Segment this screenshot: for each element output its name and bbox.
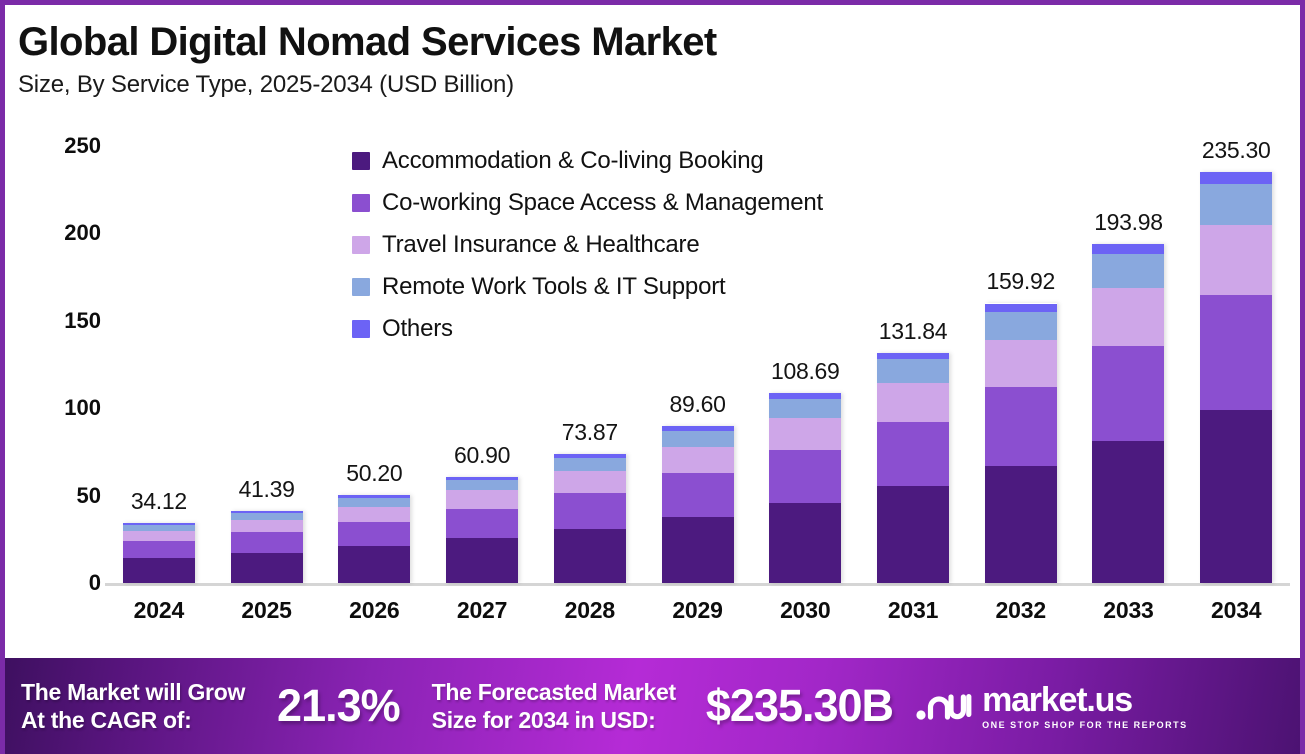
bar-segment[interactable] xyxy=(1092,441,1164,583)
bar-segment[interactable] xyxy=(231,553,303,583)
bar-total-label: 235.30 xyxy=(1202,137,1271,164)
bar-segment[interactable] xyxy=(662,473,734,517)
legend-item-label: Accommodation & Co-living Booking xyxy=(382,147,764,175)
legend-item[interactable]: Others xyxy=(352,315,823,343)
cagr-label: The Market will Grow At the CAGR of: xyxy=(21,678,245,734)
y-axis-tick: 200 xyxy=(27,220,101,246)
bar-total-label: 193.98 xyxy=(1094,209,1163,236)
legend-item-label: Others xyxy=(382,315,453,343)
bar-segment[interactable] xyxy=(877,383,949,422)
bar-total-label: 34.12 xyxy=(131,488,187,515)
bar-total-label: 50.20 xyxy=(346,460,402,487)
footer-banner: The Market will Grow At the CAGR of: 21.… xyxy=(5,658,1305,754)
bar-total-label: 60.90 xyxy=(454,442,510,469)
bar-total-label: 108.69 xyxy=(771,358,840,385)
bar-segment[interactable] xyxy=(662,517,734,583)
y-axis: 050100150200250 xyxy=(27,117,101,587)
bar-segment[interactable] xyxy=(554,529,626,583)
legend-item[interactable]: Accommodation & Co-living Booking xyxy=(352,147,823,175)
bar-stack[interactable] xyxy=(662,426,734,583)
x-axis-tick: 2034 xyxy=(1182,597,1290,624)
bar-segment[interactable] xyxy=(123,541,195,558)
x-axis-tick: 2027 xyxy=(428,597,536,624)
market-us-logo-text: market.us ONE STOP SHOP FOR THE REPORTS xyxy=(982,683,1188,730)
chart-plot-area: 050100150200250 Accommodation & Co-livin… xyxy=(5,117,1300,637)
cagr-label-line1: The Market will Grow xyxy=(21,678,245,706)
bar-segment[interactable] xyxy=(877,353,949,360)
header: Global Digital Nomad Services Market Siz… xyxy=(18,22,1288,99)
bar-segment[interactable] xyxy=(554,493,626,529)
bar-total-label: 73.87 xyxy=(562,419,618,446)
logo-tagline: ONE STOP SHOP FOR THE REPORTS xyxy=(982,720,1188,730)
bar-stack[interactable] xyxy=(877,353,949,583)
bar-total-label: 159.92 xyxy=(986,268,1055,295)
bar-segment[interactable] xyxy=(123,558,195,583)
bar-segment[interactable] xyxy=(231,513,303,520)
bar-segment[interactable] xyxy=(662,431,734,447)
bar-segment[interactable] xyxy=(1200,295,1272,410)
bar-segment[interactable] xyxy=(1200,172,1272,184)
page-title: Global Digital Nomad Services Market xyxy=(18,22,1288,64)
x-axis-baseline xyxy=(105,583,1290,586)
bar-segment[interactable] xyxy=(338,546,410,583)
bar-segment[interactable] xyxy=(338,522,410,547)
bar-segment[interactable] xyxy=(985,312,1057,340)
y-axis-tick: 150 xyxy=(27,308,101,334)
bar-segment[interactable] xyxy=(1092,244,1164,254)
bar-segment[interactable] xyxy=(446,509,518,539)
bar-segment[interactable] xyxy=(769,503,841,583)
y-axis-tick: 0 xyxy=(27,570,101,596)
cagr-label-line2: At the CAGR of: xyxy=(21,706,245,734)
x-axis-tick: 2029 xyxy=(644,597,752,624)
logo-wordmark: market.us xyxy=(982,683,1132,717)
bar-segment[interactable] xyxy=(985,340,1057,388)
bar-segment[interactable] xyxy=(1200,225,1272,295)
legend-swatch-icon xyxy=(352,152,370,170)
bar-segment[interactable] xyxy=(338,498,410,507)
legend-item[interactable]: Co-working Space Access & Management xyxy=(352,189,823,217)
bar-segment[interactable] xyxy=(985,466,1057,583)
bar-column[interactable]: 193.98 xyxy=(1075,117,1183,583)
forecast-size-label-line2: Size for 2034 in USD: xyxy=(432,706,676,734)
bar-column[interactable]: 159.92 xyxy=(967,117,1075,583)
x-axis-tick: 2033 xyxy=(1075,597,1183,624)
x-axis-tick: 2025 xyxy=(213,597,321,624)
bar-segment[interactable] xyxy=(769,450,841,503)
x-axis-tick: 2031 xyxy=(859,597,967,624)
y-axis-tick: 250 xyxy=(27,133,101,159)
bar-column[interactable]: 131.84 xyxy=(859,117,967,583)
bar-stack[interactable] xyxy=(769,393,841,583)
bar-stack[interactable] xyxy=(338,495,410,583)
bar-stack[interactable] xyxy=(985,303,1057,583)
bar-stack[interactable] xyxy=(1200,172,1272,583)
bar-total-label: 131.84 xyxy=(879,318,948,345)
bar-column[interactable]: 34.12 xyxy=(105,117,213,583)
bar-segment[interactable] xyxy=(769,418,841,450)
infographic-root: Global Digital Nomad Services Market Siz… xyxy=(0,0,1305,754)
bar-segment[interactable] xyxy=(1200,410,1272,583)
legend-item[interactable]: Remote Work Tools & IT Support xyxy=(352,273,823,301)
bar-column[interactable]: 41.39 xyxy=(213,117,321,583)
forecast-size-label-line1: The Forecasted Market xyxy=(432,678,676,706)
y-axis-tick: 100 xyxy=(27,395,101,421)
bar-segment[interactable] xyxy=(554,471,626,493)
bar-segment[interactable] xyxy=(1092,288,1164,346)
bar-segment[interactable] xyxy=(985,387,1057,465)
market-us-logo-icon xyxy=(915,684,973,729)
market-us-logo: market.us ONE STOP SHOP FOR THE REPORTS xyxy=(915,683,1188,730)
legend-item[interactable]: Travel Insurance & Healthcare xyxy=(352,231,823,259)
bar-total-label: 89.60 xyxy=(670,391,726,418)
bar-stack[interactable] xyxy=(231,511,303,583)
bar-segment[interactable] xyxy=(1092,254,1164,288)
x-axis-tick: 2024 xyxy=(105,597,213,624)
bar-segment[interactable] xyxy=(231,532,303,552)
bar-stack[interactable] xyxy=(554,454,626,583)
bar-segment[interactable] xyxy=(985,304,1057,312)
bar-segment[interactable] xyxy=(877,486,949,583)
bar-stack[interactable] xyxy=(446,477,518,583)
bar-segment[interactable] xyxy=(446,538,518,583)
bar-segment[interactable] xyxy=(446,480,518,491)
legend-swatch-icon xyxy=(352,320,370,338)
bar-segment[interactable] xyxy=(446,490,518,508)
bar-segment[interactable] xyxy=(338,507,410,522)
bar-segment[interactable] xyxy=(231,520,303,532)
bar-segment[interactable] xyxy=(662,447,734,474)
legend-swatch-icon xyxy=(352,236,370,254)
forecast-size-value: $235.30B xyxy=(706,680,893,732)
x-axis-tick: 2026 xyxy=(320,597,428,624)
cagr-value: 21.3% xyxy=(277,680,400,732)
bar-segment[interactable] xyxy=(877,422,949,487)
legend-item-label: Remote Work Tools & IT Support xyxy=(382,273,726,301)
bar-segment[interactable] xyxy=(1200,184,1272,225)
legend-item-label: Travel Insurance & Healthcare xyxy=(382,231,699,259)
x-axis-tick: 2028 xyxy=(536,597,644,624)
bar-total-label: 41.39 xyxy=(239,476,295,503)
forecast-size-label: The Forecasted Market Size for 2034 in U… xyxy=(432,678,676,734)
x-axis-tick: 2030 xyxy=(751,597,859,624)
x-axis: 2024202520262027202820292030203120322033… xyxy=(105,597,1290,624)
bar-segment[interactable] xyxy=(1092,346,1164,441)
chart-legend: Accommodation & Co-living BookingCo-work… xyxy=(352,147,823,343)
y-axis-tick: 50 xyxy=(27,483,101,509)
bar-segment[interactable] xyxy=(123,531,195,541)
bar-stack[interactable] xyxy=(1092,244,1164,583)
bar-segment[interactable] xyxy=(769,399,841,418)
page-subtitle: Size, By Service Type, 2025-2034 (USD Bi… xyxy=(18,71,1288,99)
legend-item-label: Co-working Space Access & Management xyxy=(382,189,823,217)
legend-swatch-icon xyxy=(352,278,370,296)
legend-swatch-icon xyxy=(352,194,370,212)
bar-stack[interactable] xyxy=(123,523,195,583)
bar-segment[interactable] xyxy=(554,458,626,471)
x-axis-tick: 2032 xyxy=(967,597,1075,624)
bar-segment[interactable] xyxy=(877,359,949,382)
bar-column[interactable]: 235.30 xyxy=(1182,117,1290,583)
